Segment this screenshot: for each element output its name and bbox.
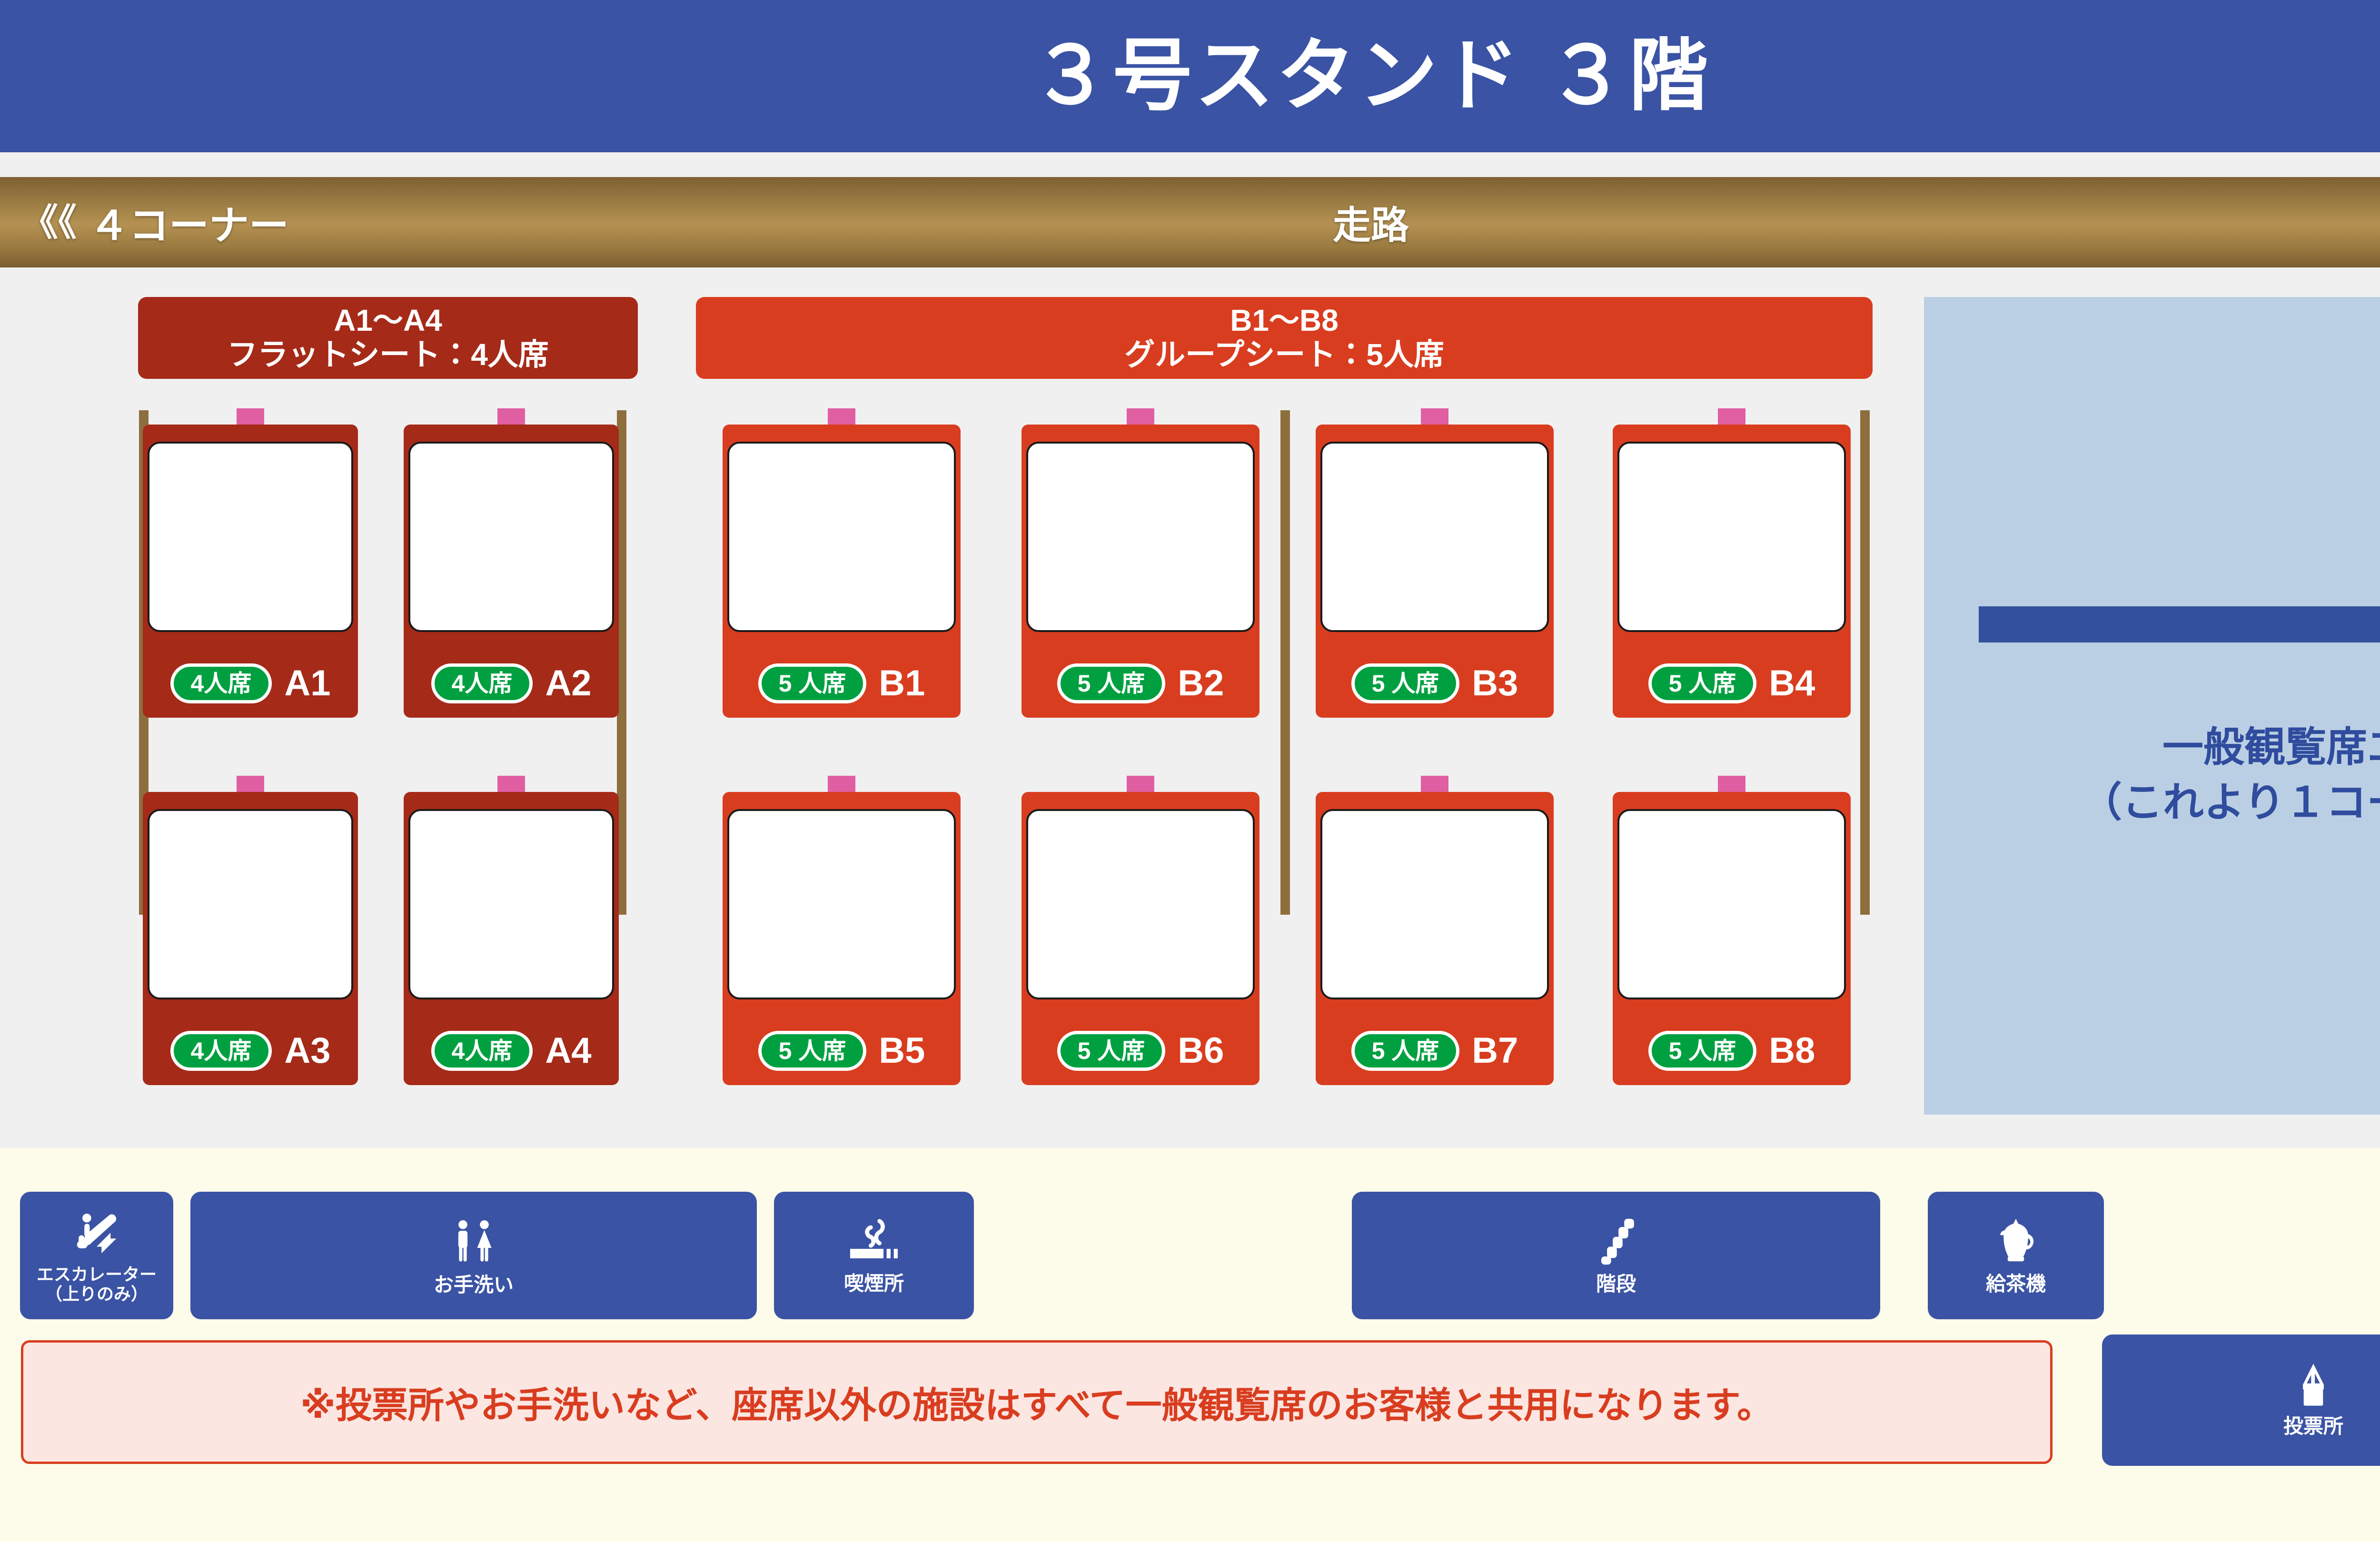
group-a-range: A1〜A4 [334,304,442,338]
capacity-badge: 5 人席 [1351,1031,1460,1071]
seat-map-area: A1〜A4 フラットシート：4人席 B1〜B8 グループシート：5人席 4人席 … [0,267,2380,1148]
seat-card-b4[interactable]: 5 人席 B4 [1613,408,1851,718]
seat-card-b5[interactable]: 5 人席 B5 [723,776,961,1085]
facility-restroom-label: お手洗い [434,1274,514,1296]
seat-body: 5 人席 B8 [1613,792,1851,1085]
facility-voting-label: 投票所 [2283,1415,2343,1438]
seat-code: A2 [545,665,591,702]
seat-code: A4 [545,1033,591,1069]
seat-body: 5 人席 B3 [1316,425,1554,718]
stairs-icon [1590,1216,1642,1268]
seat-body: 4人席 A4 [404,792,619,1085]
seat-body: 5 人席 B2 [1021,425,1259,718]
escalator-icon [70,1207,123,1260]
arrow-right-icon [1979,582,2380,667]
seat-code: B4 [1769,665,1815,702]
seat-card-a2[interactable]: 4人席 A2 [404,408,619,718]
capacity-badge: 4人席 [431,1031,533,1071]
ballot-box-icon [2290,1363,2337,1410]
seat-area-blank [148,809,353,999]
seat-area-blank [408,442,614,632]
group-a-type: フラットシート：4人席 [227,338,549,372]
teapot-icon [1990,1216,2042,1268]
seat-body: 5 人席 B7 [1316,792,1554,1085]
seat-code: B3 [1472,665,1518,702]
seat-code: B6 [1178,1033,1224,1069]
seat-label-row: 4人席 A3 [143,1031,358,1071]
facility-escalator[interactable]: エスカレーター （上りのみ） [20,1192,173,1319]
seat-area-blank [1026,809,1255,999]
facility-smoking-label: 喫煙所 [844,1272,904,1295]
group-b-type: グループシート：5人席 [1124,338,1444,372]
seat-label-row: 5 人席 B8 [1613,1031,1851,1071]
corner-4-indicator[interactable]: 《《 ４コーナー [21,194,289,251]
seat-area-blank [408,809,614,999]
seat-body: 4人席 A3 [143,792,358,1085]
smoking-icon [845,1216,902,1267]
facility-tea-dispenser[interactable]: 給茶機 [1928,1192,2104,1319]
seat-card-b6[interactable]: 5 人席 B6 [1021,776,1259,1085]
stadium-seating-map: ３号スタンド ３階 《《 ４コーナー 走路 １コーナー 》》 A1〜A4 フラッ… [0,0,2380,1542]
capacity-badge: 5 人席 [1648,1031,1757,1071]
seat-area-blank [148,442,353,632]
facility-tea-label: 給茶機 [1986,1273,2046,1295]
page-title-bar: ３号スタンド ３階 [0,0,2380,152]
capacity-badge: 5 人席 [1351,663,1460,703]
general-admission-area: 一般観覧席エリア （これより１コーナー側） [1924,297,2380,1115]
seat-body: 4人席 A2 [404,425,619,718]
seat-area-blank [727,442,956,632]
corridor-bar: 《《 ４コーナー 走路 １コーナー 》》 [0,177,2380,267]
group-b-range: B1〜B8 [1230,304,1339,338]
seat-label-row: 5 人席 B5 [723,1031,961,1071]
seat-card-b2[interactable]: 5 人席 B2 [1021,408,1259,718]
title-corridor-gap [0,152,2380,177]
seat-card-b1[interactable]: 5 人席 B1 [723,408,961,718]
seat-area-blank [1320,809,1549,999]
seat-body: 5 人席 B6 [1021,792,1259,1085]
notice-text: ※投票所やお手洗いなど、座席以外の施設はすべて一般観覧席のお客様と共用になります… [300,1376,1773,1428]
corner-4-label: ４コーナー [89,194,289,251]
capacity-badge: 5 人席 [758,1031,867,1071]
seat-area-blank [1026,442,1255,632]
seat-label-row: 4人席 A4 [404,1031,619,1071]
general-area-line2: （これより１コーナー側） [2081,775,2380,830]
seat-area-blank [1320,442,1549,632]
capacity-badge: 4人席 [170,1031,272,1071]
seat-card-a4[interactable]: 4人席 A4 [404,776,619,1085]
seat-card-b3[interactable]: 5 人席 B3 [1316,408,1554,718]
seat-label-row: 5 人席 B2 [1021,663,1259,703]
seat-area-blank [1617,442,1846,632]
seat-code: B7 [1472,1033,1518,1069]
facility-smoking-area[interactable]: 喫煙所 [774,1192,974,1319]
seat-body: 5 人席 B5 [723,792,961,1085]
seat-body: 5 人席 B4 [1613,425,1851,718]
page-title: ３号スタンド ３階 [1031,37,1711,116]
seat-area-blank [727,809,956,999]
seat-card-b8[interactable]: 5 人席 B8 [1613,776,1851,1085]
group-header-b: B1〜B8 グループシート：5人席 [696,297,1873,379]
restroom-icon [445,1214,502,1269]
shared-facility-notice: ※投票所やお手洗いなど、座席以外の施設はすべて一般観覧席のお客様と共用になります… [21,1340,2053,1464]
seat-card-b7[interactable]: 5 人席 B7 [1316,776,1554,1085]
seat-label-row: 5 人席 B6 [1021,1031,1259,1071]
footer-legend: エスカレーター （上りのみ） お手洗い [0,1148,2380,1542]
capacity-badge: 5 人席 [1057,1031,1166,1071]
seat-label-row: 5 人席 B1 [723,663,961,703]
seat-code: B5 [879,1033,925,1069]
seat-label-row: 4人席 A1 [143,663,358,703]
seat-area-blank [1617,809,1846,999]
seat-code: A1 [284,665,330,702]
seat-code: B8 [1769,1033,1815,1069]
seat-body: 5 人席 B1 [723,425,961,718]
seat-label-row: 5 人席 B3 [1316,663,1554,703]
chevron-left-double-icon: 《《 [21,204,77,241]
seat-code: A3 [284,1033,330,1069]
seat-card-a1[interactable]: 4人席 A1 [143,408,358,718]
facility-stairs-label: 階段 [1596,1273,1636,1295]
seat-label-row: 5 人席 B7 [1316,1031,1554,1071]
seat-label-row: 4人席 A2 [404,663,619,703]
facility-stairs[interactable]: 階段 [1352,1192,1880,1319]
capacity-badge: 5 人席 [1057,663,1166,703]
seat-card-a3[interactable]: 4人席 A3 [143,776,358,1085]
facility-voting-booth[interactable]: 投票所 [2102,1334,2380,1466]
facility-restroom[interactable]: お手洗い [190,1192,757,1319]
capacity-badge: 5 人席 [1648,663,1757,703]
seat-label-row: 5 人席 B4 [1613,663,1851,703]
seat-code: B1 [879,665,925,702]
capacity-badge: 4人席 [431,663,533,703]
capacity-badge: 4人席 [170,663,272,703]
general-area-line1: 一般観覧席エリア [2162,720,2380,775]
aisle-divider-b-mid [1280,410,1290,915]
seat-body: 4人席 A1 [143,425,358,718]
group-header-a: A1〜A4 フラットシート：4人席 [138,297,638,379]
capacity-badge: 5 人席 [758,663,867,703]
aisle-divider-b-right [1860,410,1870,915]
facility-escalator-label: エスカレーター （上りのみ） [37,1265,157,1304]
seat-code: B2 [1178,665,1224,702]
corridor-center-label: 走路 [1333,195,1409,250]
